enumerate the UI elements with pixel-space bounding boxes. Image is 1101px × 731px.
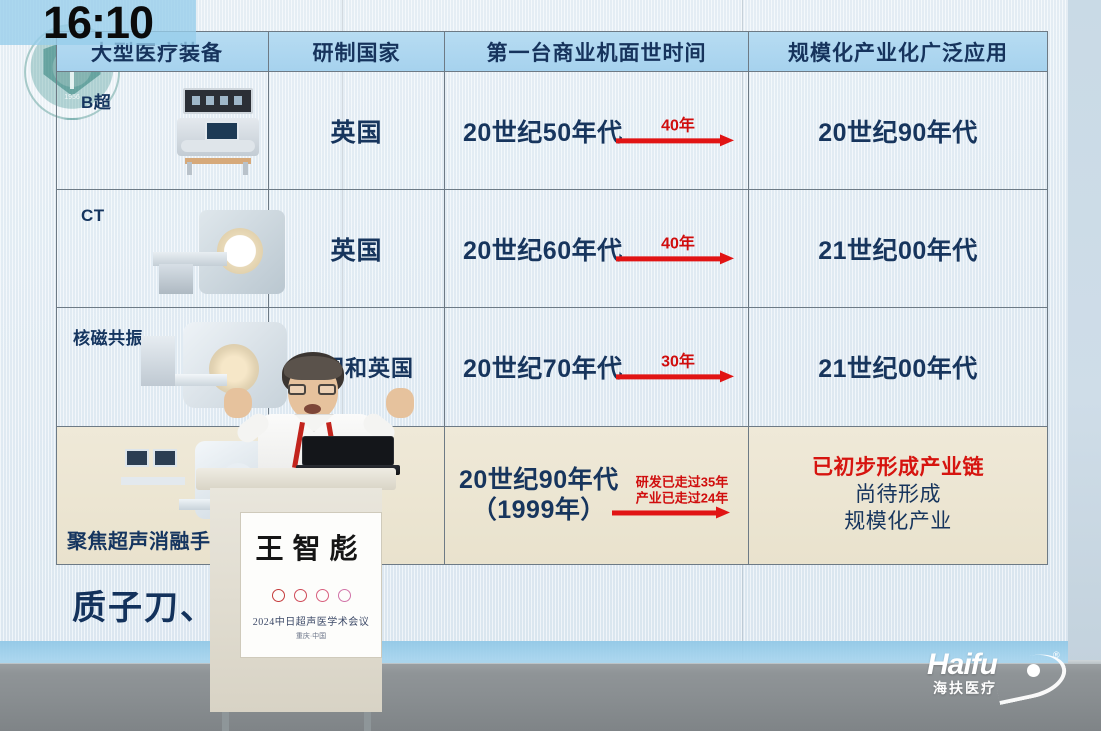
haifu-logo-latin: Haifu xyxy=(927,648,997,682)
speaker-hair-top xyxy=(284,356,342,380)
gap-arrow: 40年 xyxy=(614,235,742,262)
ct-scanner-photo xyxy=(153,206,291,298)
first-commercial-value: 20世纪60年代 xyxy=(445,231,623,267)
sponsor-logo-icon xyxy=(294,589,307,602)
mri-cabinet xyxy=(141,336,175,386)
haifu-dot-icon xyxy=(1027,664,1040,677)
arrow-right-icon xyxy=(614,254,742,262)
widespread-value: 21世纪00年代 xyxy=(818,349,978,385)
screen-bottom-band xyxy=(0,641,1068,663)
podium-name-sign: 王智彪 2024中日超声医学术会议 重庆·中国 xyxy=(240,512,382,658)
ultrasound-machine-photo xyxy=(169,88,265,176)
first-commercial-cell: 20世纪90年代 （1999年） 研发已走过35年 产业已走过24年 xyxy=(445,427,749,564)
gap-arrow: 研发已走过35年 产业已走过24年 xyxy=(610,475,754,516)
conference-title: 2024中日超声医学术会议 xyxy=(241,613,381,628)
glasses-icon xyxy=(288,384,306,395)
podium-leg xyxy=(364,712,371,731)
clock-overlay: 16:10 xyxy=(0,0,196,45)
laptop-screen xyxy=(302,436,394,466)
speaker-hand-right xyxy=(386,388,414,418)
widespread-sub1: 尚待形成 xyxy=(812,482,984,509)
device-label: B超 xyxy=(81,88,111,113)
podium-leg xyxy=(222,712,229,731)
speaker-mouth xyxy=(304,404,321,414)
clock-time: 16:10 xyxy=(43,0,153,45)
first-commercial-cell: 20世纪50年代 40年 xyxy=(445,72,749,189)
table-header-row: 大型医疗装备 研制国家 第一台商业机面世时间 规模化产业化广泛应用 xyxy=(57,32,1047,72)
widespread-main: 已初步形成产业链 xyxy=(812,455,984,482)
haifu-logo-chinese: 海扶医疗 xyxy=(933,678,997,698)
widespread-cell: 21世纪00年代 xyxy=(749,308,1047,426)
gap-label-2: 产业已走过24年 xyxy=(610,491,754,505)
ct-table-post xyxy=(159,264,193,294)
gap-arrow: 30年 xyxy=(614,353,742,380)
sponsor-logo-icon xyxy=(272,589,285,602)
widespread-value: 21世纪00年代 xyxy=(818,231,978,267)
hifu-monitor-icon xyxy=(125,449,149,467)
country-value: 英国 xyxy=(330,231,382,267)
arrow-right-icon xyxy=(610,508,754,516)
ultrasound-display-icon xyxy=(183,88,253,114)
first-commercial-cell: 20世纪70年代 30年 xyxy=(445,308,749,426)
table-row: 核磁共振 美国和英国 20世纪70年代 30年 21世纪00年代 xyxy=(57,308,1047,427)
widespread-cell: 20世纪90年代 xyxy=(749,72,1047,189)
gap-label: 40年 xyxy=(614,235,742,252)
device-label: 核磁共振 xyxy=(73,324,143,349)
gap-label: 40年 xyxy=(614,117,742,134)
header-widespread: 规模化产业化广泛应用 xyxy=(749,32,1047,71)
gap-arrow: 40年 xyxy=(614,117,742,144)
ct-bore xyxy=(217,228,263,274)
table-row: CT 英国 20世纪60年代 40年 21世纪00年代 xyxy=(57,190,1047,308)
widespread-value: 20世纪90年代 xyxy=(818,113,978,149)
conference-subtitle: 重庆·中国 xyxy=(241,631,381,641)
hifu-console-desk xyxy=(121,477,185,485)
speaker-name: 王智彪 xyxy=(241,527,381,567)
podium: 王智彪 2024中日超声医学术会议 重庆·中国 xyxy=(196,468,396,731)
gap-label-1: 研发已走过35年 xyxy=(610,475,754,489)
speaker-hand-left xyxy=(224,388,252,418)
arrow-right-icon xyxy=(614,136,742,144)
sponsor-logo-icon xyxy=(338,589,351,602)
podium-top-surface xyxy=(196,468,396,490)
country-cell: 英国 xyxy=(269,72,445,189)
widespread-cell: 已初步形成产业链 尚待形成 规模化产业 xyxy=(749,427,1047,564)
widespread-sub2: 规模化产业 xyxy=(812,509,984,536)
device-cell: B超 xyxy=(57,72,269,189)
country-cell: 英国 xyxy=(269,190,445,307)
sponsor-logo-icon xyxy=(316,589,329,602)
registered-trademark-icon: ® xyxy=(1053,650,1060,660)
country-value: 英国 xyxy=(330,113,382,149)
ultrasound-monitor xyxy=(205,121,239,141)
haifu-logo: Haifu ® 海扶医疗 xyxy=(927,648,1087,708)
header-first-commercial: 第一台商业机面世时间 xyxy=(445,32,749,71)
ultrasound-keyboard xyxy=(181,140,255,152)
arrow-right-icon xyxy=(614,373,742,381)
sponsor-logos xyxy=(241,589,381,602)
first-commercial-value: 20世纪50年代 xyxy=(445,113,623,149)
podium-body: 王智彪 2024中日超声医学术会议 重庆·中国 xyxy=(210,488,382,712)
glasses-icon xyxy=(318,384,336,395)
header-country: 研制国家 xyxy=(269,32,445,71)
first-commercial-sub: （1999年） xyxy=(459,496,619,526)
hifu-monitor-icon xyxy=(153,449,177,467)
first-commercial-value: 20世纪90年代 xyxy=(459,466,619,496)
first-commercial-cell: 20世纪60年代 40年 xyxy=(445,190,749,307)
device-cell: CT xyxy=(57,190,269,307)
ultrasound-base xyxy=(185,158,251,164)
first-commercial-value: 20世纪70年代 xyxy=(445,349,623,385)
widespread-cell: 21世纪00年代 xyxy=(749,190,1047,307)
screenshot-stage: 1956 大型医疗装备 研制国家 第一台商业机面世时间 规模化产业化广泛应用 B… xyxy=(0,0,1101,731)
device-label: CT xyxy=(81,206,105,226)
gap-label: 30年 xyxy=(614,353,742,370)
table-row: B超 英国 20世纪50年代 40年 xyxy=(57,72,1047,190)
